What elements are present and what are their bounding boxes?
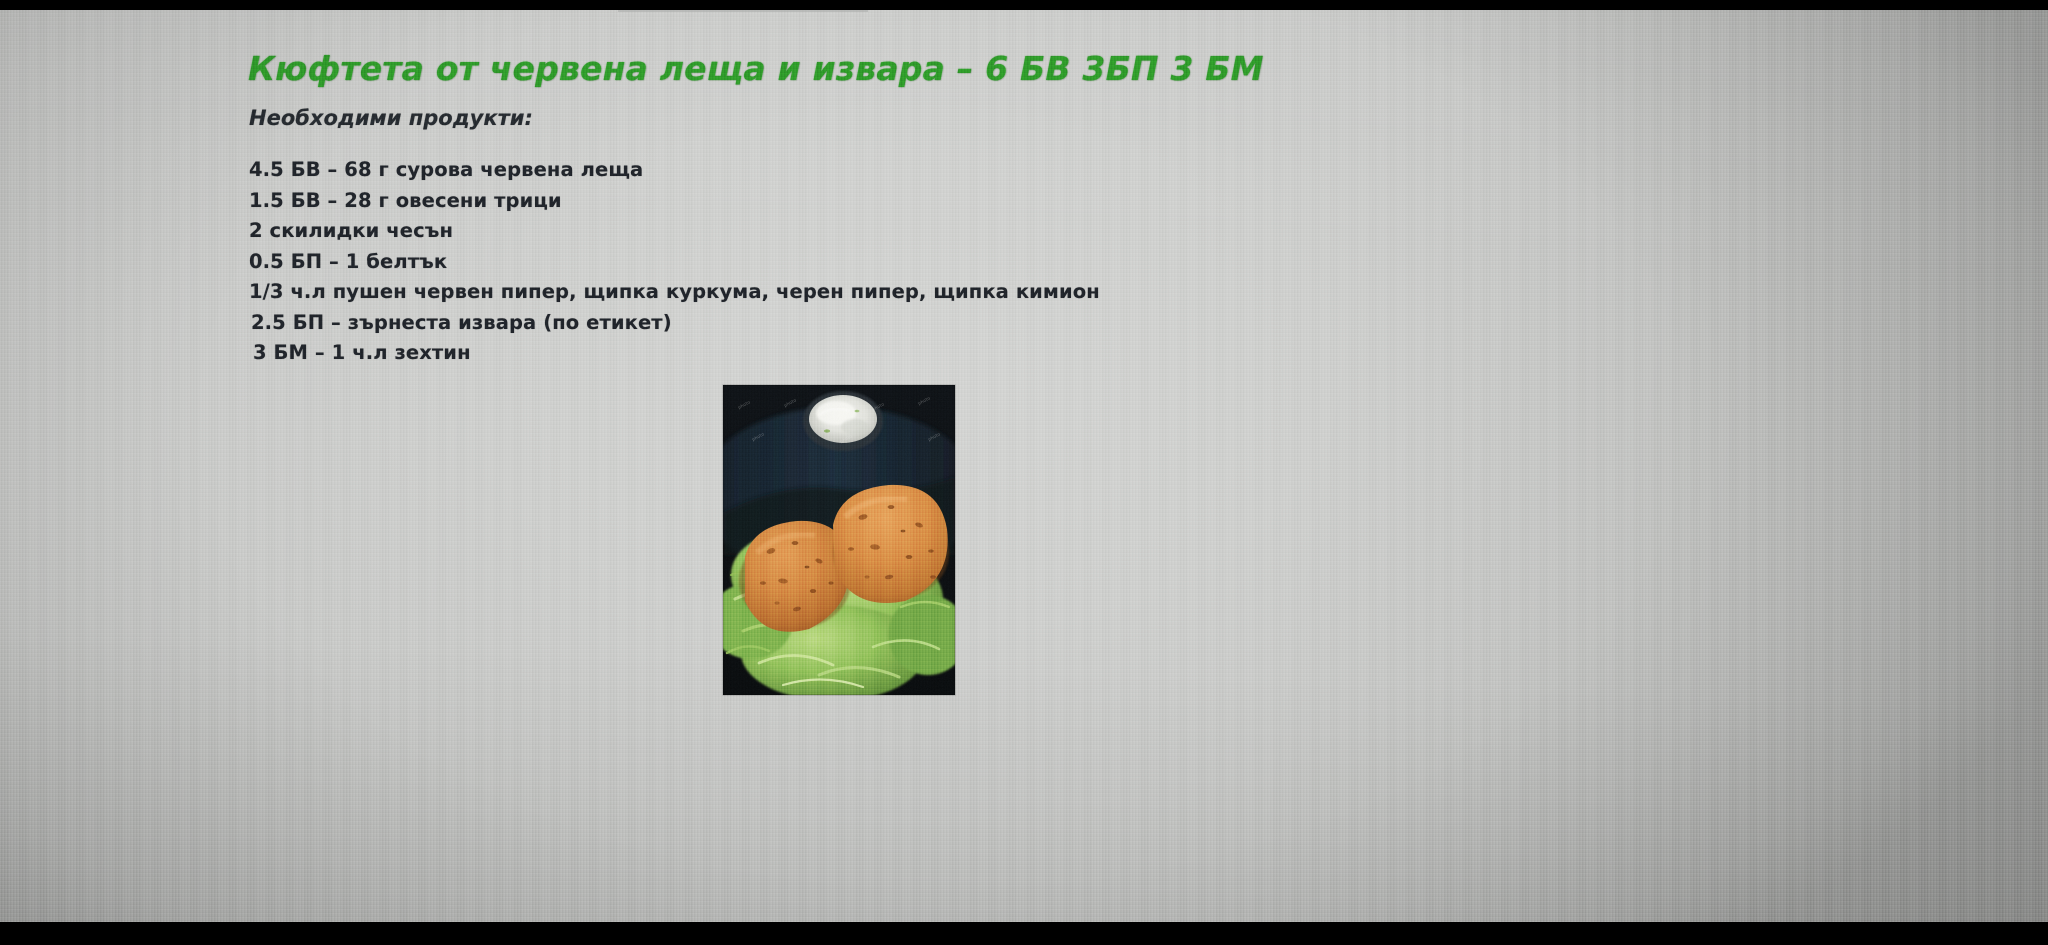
list-item: 3 БМ – 1 ч.л зехтин — [249, 338, 1149, 369]
letterbox-bottom — [0, 922, 2048, 945]
food-photo: photo photo photo photo photo photo phot… — [723, 385, 955, 695]
list-item: 1.5 БВ – 28 г овесени трици — [249, 186, 1149, 217]
presentation-slide: Кюфтета от червена леща и извара – 6 БВ … — [0, 10, 2048, 922]
ingredients-heading: Необходими продукти: — [249, 106, 533, 130]
list-item: 2 скилидки чесън — [249, 216, 1149, 247]
letterbox-top — [0, 0, 2048, 10]
list-item: 4.5 БВ – 68 г сурова червена леща — [249, 155, 1149, 186]
page-title: Кюфтета от червена леща и извара – 6 БВ … — [248, 49, 1264, 88]
list-item: 1/3 ч.л пушен червен пипер, щипка куркум… — [249, 277, 1149, 308]
list-item: 2.5 БП – зърнеста извара (по етикет) — [249, 308, 1149, 339]
list-item: 0.5 БП – 1 белтък — [249, 247, 1149, 278]
monitor-screen: Кюфтета от червена леща и извара – 6 БВ … — [0, 10, 2048, 922]
food-photo-image: photo photo photo photo photo photo phot… — [723, 385, 955, 695]
ingredients-list: 4.5 БВ – 68 г сурова червена леща 1.5 БВ… — [249, 155, 1149, 369]
monitor-photo-frame: Кюфтета от червена леща и извара – 6 БВ … — [0, 0, 2048, 945]
